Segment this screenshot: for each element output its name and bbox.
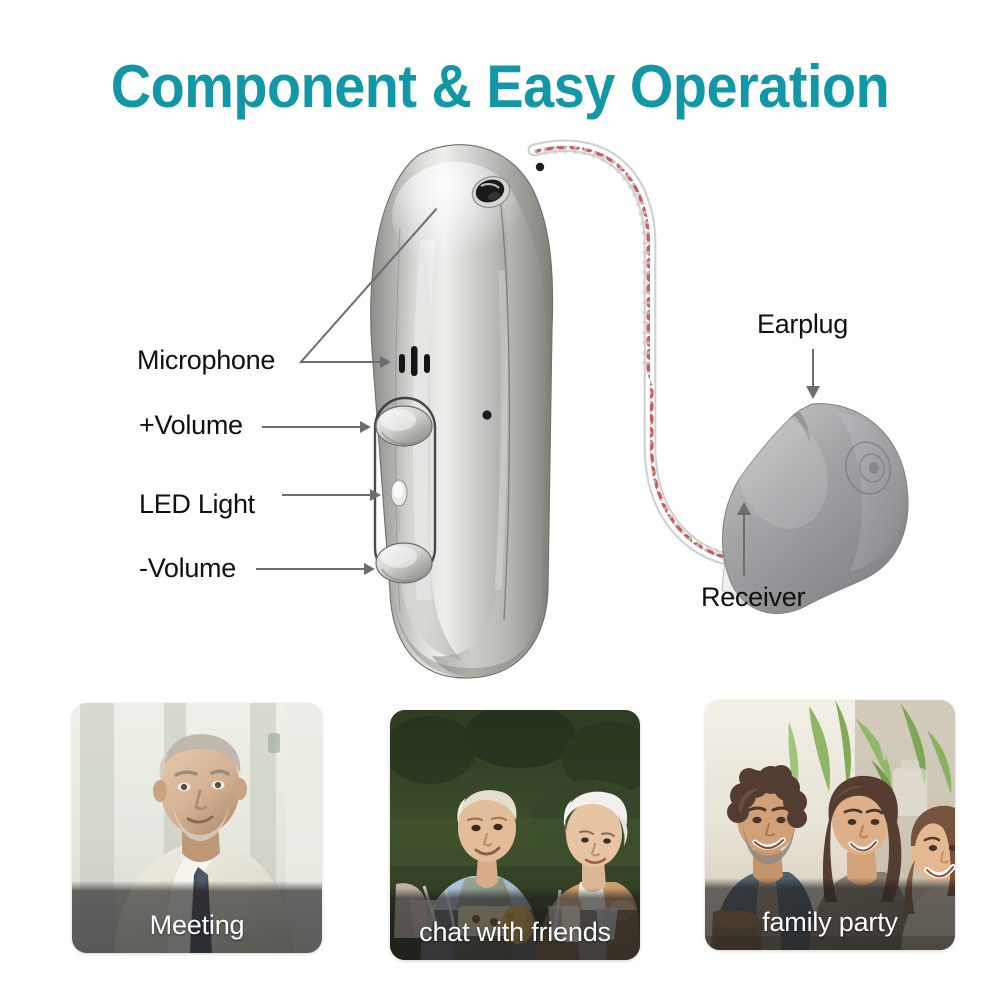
leader-volume-up bbox=[262, 426, 362, 428]
side-pinhole bbox=[482, 410, 491, 419]
leader-microphone-slots bbox=[300, 361, 382, 363]
callout-label-led-light: LED Light bbox=[139, 489, 255, 520]
hearing-aid-body bbox=[371, 145, 553, 678]
arrow-microphone-slots bbox=[380, 356, 391, 368]
page-title: Component & Easy Operation bbox=[35, 52, 965, 121]
leader-earplug bbox=[812, 349, 814, 391]
leader-volume-down bbox=[256, 568, 366, 570]
callout-label-receiver: Receiver bbox=[701, 582, 805, 613]
scenario-card-chat-with-friends[interactable]: chat with friends bbox=[390, 710, 640, 960]
callout-label-volume-down: -Volume bbox=[139, 553, 236, 584]
receiver-tube bbox=[534, 146, 742, 562]
scenario-caption-meeting: Meeting bbox=[72, 910, 322, 941]
volume-up-button bbox=[376, 406, 432, 446]
scenario-card-family-party[interactable]: family party bbox=[705, 700, 955, 950]
callout-label-microphone: Microphone bbox=[137, 345, 275, 376]
infographic-page: Component & Easy Operation bbox=[0, 0, 1000, 1000]
volume-down-button bbox=[376, 543, 432, 583]
top-vent-hole bbox=[536, 163, 544, 171]
arrow-volume-up bbox=[360, 421, 371, 433]
arrow-led-light bbox=[370, 489, 381, 501]
leader-receiver bbox=[743, 512, 745, 576]
scenario-card-meeting[interactable]: Meeting bbox=[72, 703, 322, 953]
arrow-volume-down bbox=[364, 563, 375, 575]
scenario-caption-family-party: family party bbox=[705, 907, 955, 938]
leader-led-light bbox=[282, 494, 372, 496]
callout-label-volume-up: +Volume bbox=[139, 410, 243, 441]
arrow-receiver bbox=[737, 502, 751, 515]
callout-label-earplug: Earplug bbox=[757, 309, 848, 340]
scenario-caption-chat-with-friends: chat with friends bbox=[390, 917, 640, 948]
arrow-earplug bbox=[806, 386, 820, 399]
